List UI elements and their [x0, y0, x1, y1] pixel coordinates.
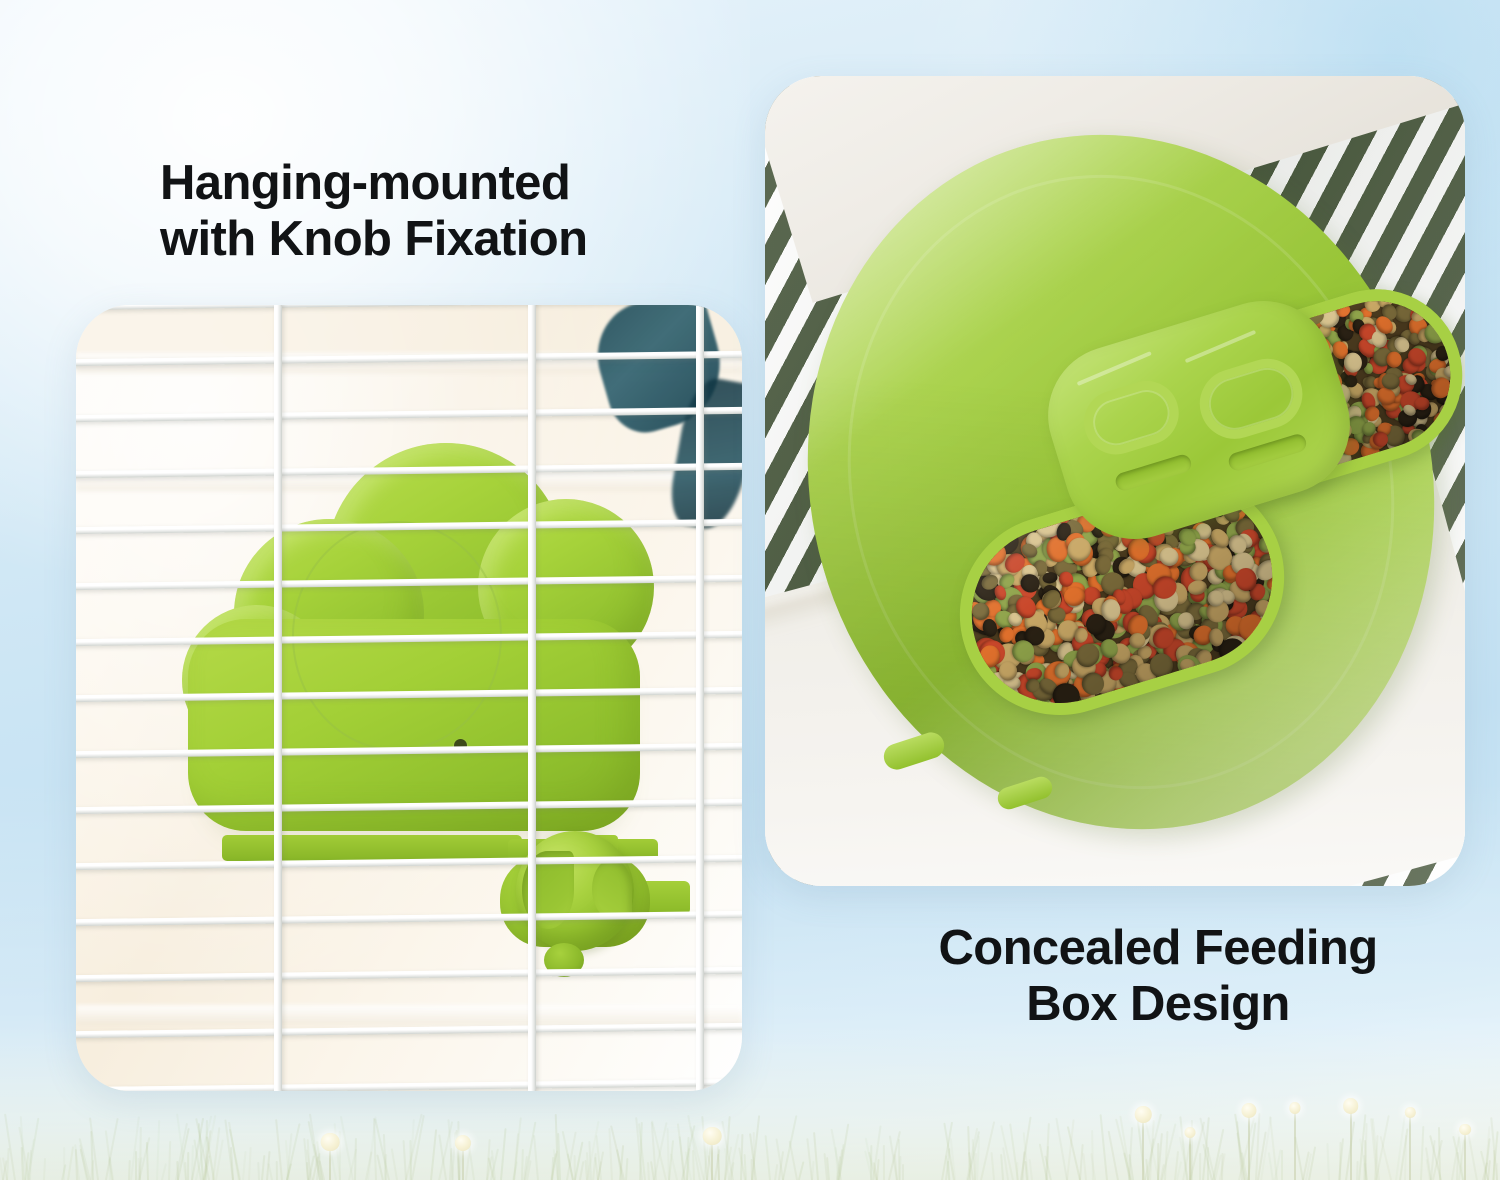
knob-notch-right: [592, 859, 632, 919]
meadow-flower: [1402, 1105, 1418, 1180]
meadow-flower: [1340, 1096, 1362, 1180]
seed: [1149, 653, 1173, 678]
flower-stem: [1464, 1133, 1466, 1180]
feature-heading-left: Hanging-mounted with Knob Fixation: [160, 155, 587, 268]
grass-blade: [1207, 1147, 1209, 1180]
grass-blade: [187, 1152, 189, 1180]
flower-stem: [1142, 1121, 1144, 1180]
flower-stem: [462, 1149, 464, 1180]
meadow-flower: [318, 1131, 343, 1180]
grass-blade: [135, 1151, 137, 1180]
seed: [1179, 658, 1196, 673]
flower-head: [1135, 1106, 1152, 1123]
grass-blade: [1199, 1153, 1201, 1180]
heading-left-line-2: with Knob Fixation: [160, 211, 587, 267]
grass-blade: [898, 1139, 900, 1180]
meadow-flower: [452, 1133, 474, 1180]
meadow-flower: [700, 1125, 725, 1180]
flower-head: [1185, 1127, 1196, 1138]
grass-blade: [276, 1161, 278, 1180]
grass-blade: [1281, 1150, 1283, 1180]
grass-blade: [128, 1160, 131, 1180]
heading-right-line-2: Box Design: [908, 976, 1408, 1032]
flower-head: [1405, 1107, 1415, 1117]
grass-blade: [1496, 1163, 1498, 1180]
mount-bracket-left: [222, 835, 522, 861]
shelf-strip-3: [76, 1005, 742, 1025]
meadow-flower: [1132, 1104, 1155, 1180]
grass-blade: [1363, 1163, 1365, 1180]
meadow-flower: [1238, 1101, 1259, 1180]
flower-head: [1289, 1102, 1300, 1113]
flower-stem: [711, 1143, 713, 1180]
cloud-vent-hole: [454, 739, 467, 752]
flower-head: [1241, 1103, 1256, 1118]
seed: [1239, 614, 1265, 641]
grass-blade: [902, 1164, 904, 1180]
grass-blade: [139, 1127, 142, 1180]
grass-blade: [947, 1161, 950, 1180]
flower-stem: [1350, 1112, 1352, 1180]
fixation-knob[interactable]: [500, 825, 670, 975]
flower-stem: [1248, 1116, 1250, 1180]
cloud-feeder-device: [182, 443, 652, 913]
heading-left-line-1: Hanging-mounted: [160, 155, 587, 211]
flower-head: [321, 1133, 340, 1152]
meadow-flower: [1286, 1100, 1303, 1180]
heading-right-line-1: Concealed Feeding: [908, 920, 1408, 976]
flower-head: [1459, 1124, 1471, 1136]
knob-cap: [516, 831, 634, 951]
flower-stem: [329, 1149, 331, 1180]
flower-head: [1343, 1098, 1359, 1114]
feature-photo-right: [765, 76, 1465, 886]
feature-photo-left: [76, 305, 742, 1091]
seed: [1415, 397, 1430, 410]
grass-blade: [883, 1145, 885, 1180]
grass-blade: [1016, 1162, 1018, 1180]
meadow-flower: [1456, 1122, 1474, 1180]
knob-bolt: [544, 943, 584, 977]
cloud-seam-line: [292, 521, 502, 751]
flower-head: [703, 1127, 722, 1146]
flower-stem: [1189, 1136, 1191, 1180]
knob-notch-left: [522, 851, 574, 929]
flower-stem: [1294, 1112, 1296, 1180]
feature-heading-right: Concealed Feeding Box Design: [908, 920, 1408, 1033]
meadow-flower: [1182, 1125, 1199, 1180]
flower-stem: [1409, 1116, 1411, 1180]
flower-head: [455, 1135, 471, 1151]
grass-blade: [1157, 1143, 1159, 1180]
